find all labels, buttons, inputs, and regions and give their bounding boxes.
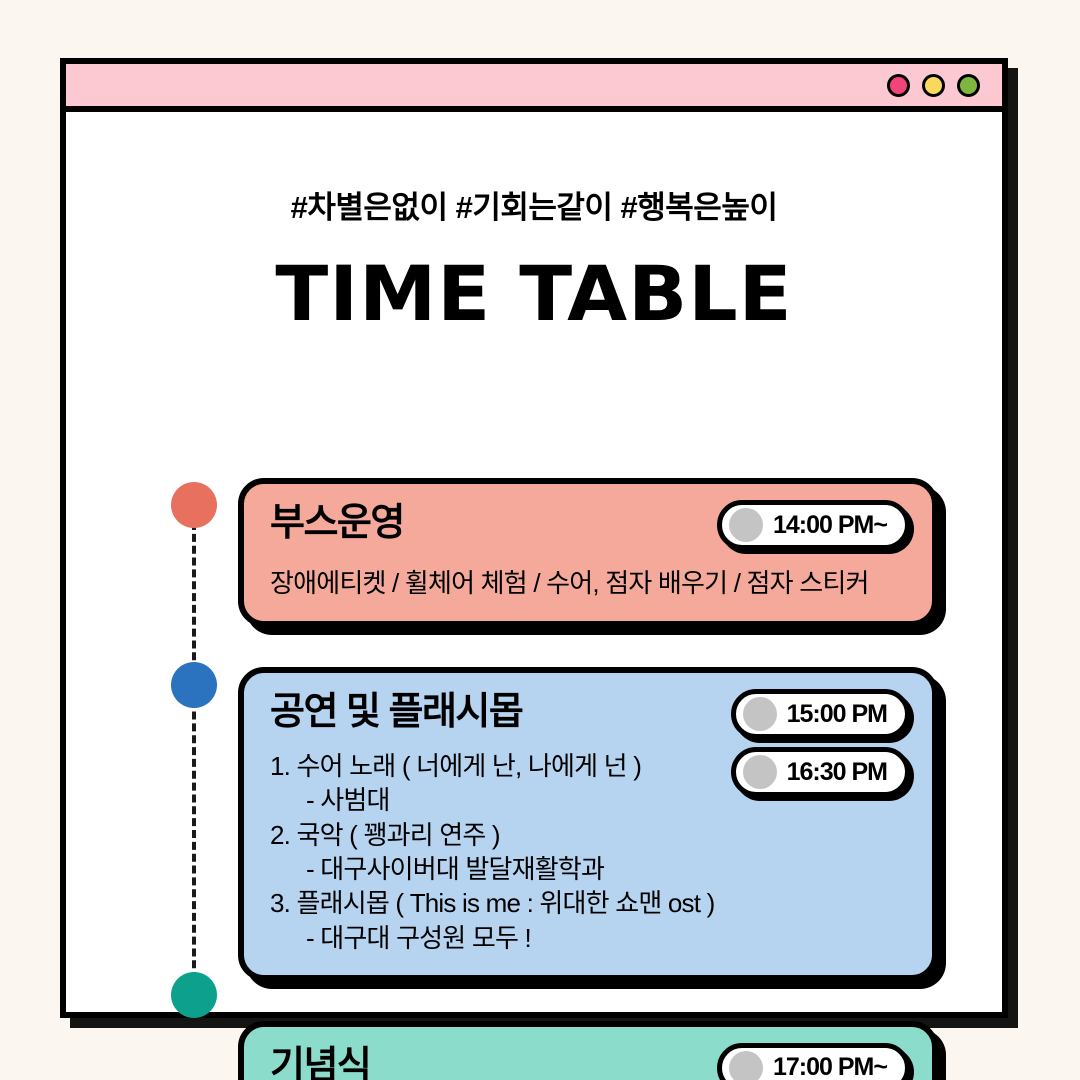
clock-icon <box>729 508 763 542</box>
timeline-dashed-line <box>192 522 196 992</box>
schedule-list: 부스운영 14:00 PM~ 장애에티켓 / 휠체어 체험 / 수어, 점자 배… <box>238 478 938 1080</box>
timeline-dot-1 <box>171 482 217 528</box>
minimize-button[interactable] <box>922 74 945 97</box>
hashtag-line: #차별은없이 #기회는같이 #행복은높이 <box>66 182 1002 227</box>
close-button[interactable] <box>887 74 910 97</box>
list-item: 2. 국악 ( 꽹과리 연주 ) <box>270 818 906 852</box>
poster-window: #차별은없이 #기회는같이 #행복은높이 TIME TABLE 부스운영 14:… <box>60 58 1008 1018</box>
page-title: TIME TABLE <box>57 249 1012 338</box>
time-badge: 17:00 PM~ <box>717 1043 910 1080</box>
list-item: - 대구대 구성원 모두 ! <box>270 921 906 955</box>
time-badge: 14:00 PM~ <box>717 500 910 550</box>
schedule-card-booth[interactable]: 부스운영 14:00 PM~ 장애에티켓 / 휠체어 체험 / 수어, 점자 배… <box>238 478 938 627</box>
time-badge: 16:30 PM <box>731 747 910 797</box>
clock-icon <box>743 697 777 731</box>
time-badge-label: 14:00 PM~ <box>773 511 887 540</box>
timeline-dot-3 <box>171 972 217 1018</box>
schedule-card-ceremony[interactable]: 기념식 17:00 PM~ 축사 / 모범상 시상 / 행운권 추첨 / 기념 … <box>238 1021 938 1080</box>
card-header: 공연 및 플래시몹 15:00 PM 16:30 PM <box>270 691 906 745</box>
list-item: - 대구사이버대 발달재활학과 <box>270 852 906 886</box>
window-titlebar <box>66 64 1002 112</box>
poster-content: #차별은없이 #기회는같이 #행복은높이 TIME TABLE 부스운영 14:… <box>66 182 1002 1080</box>
timeline-dot-2 <box>171 662 217 708</box>
clock-icon <box>743 755 777 789</box>
list-item: 3. 플래시몹 ( This is me : 위대한 쇼맨 ost ) <box>270 886 906 920</box>
card-description: 장애에티켓 / 휠체어 체험 / 수어, 점자 배우기 / 점자 스티커 <box>270 566 906 601</box>
schedule-card-performance[interactable]: 공연 및 플래시몹 15:00 PM 16:30 PM 1. 수어 노래 ( 너 <box>238 667 938 981</box>
time-badge-label: 15:00 PM <box>787 700 887 729</box>
time-badge-group: 15:00 PM 16:30 PM <box>731 689 910 797</box>
timeline <box>171 482 221 1042</box>
maximize-button[interactable] <box>957 74 980 97</box>
card-header: 부스운영 14:00 PM~ <box>270 502 906 556</box>
time-badge-group: 17:00 PM~ <box>717 1043 910 1080</box>
time-badge-label: 16:30 PM <box>787 758 887 787</box>
time-badge-group: 14:00 PM~ <box>717 500 910 550</box>
clock-icon <box>729 1051 763 1080</box>
time-badge: 15:00 PM <box>731 689 910 739</box>
time-badge-label: 17:00 PM~ <box>773 1053 887 1080</box>
card-header: 기념식 17:00 PM~ <box>270 1045 906 1080</box>
